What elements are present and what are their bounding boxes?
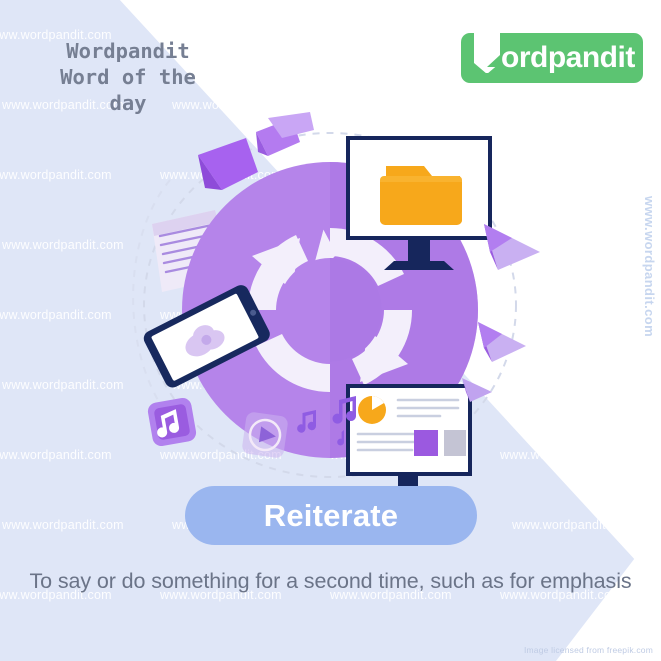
bookmark-icon xyxy=(474,33,500,73)
dashboard-swatch-gray xyxy=(444,430,466,456)
word-pill[interactable]: Reiterate xyxy=(185,486,477,545)
paper-plane-lower xyxy=(478,322,526,362)
watermark-text: www.wordpandit.com xyxy=(2,518,124,532)
music-app-tile xyxy=(147,397,198,448)
wordpandit-logo[interactable]: ordpandit xyxy=(461,33,643,83)
watermark-text: www.wordpandit.com xyxy=(512,518,634,532)
logo-text: ordpandit xyxy=(501,33,635,83)
image-credit: Image licensed from freepik.com xyxy=(524,645,653,655)
illustration xyxy=(0,110,661,500)
page-title: Wordpandit Word of the day xyxy=(22,38,234,116)
paper-plane-upper xyxy=(484,224,540,270)
watermark-text: www.wordpandit.com xyxy=(330,28,452,42)
definition-text: To say or do something for a second time… xyxy=(24,566,637,597)
dashed-arc-left xyxy=(133,180,175,425)
dashboard-swatch-purple xyxy=(414,430,438,456)
word-of-the-day-card: www.wordpandit.comwww.wordpandit.comwww.… xyxy=(0,0,661,661)
pie-chart-icon xyxy=(358,396,386,424)
play-button-tile xyxy=(241,411,288,458)
word-text: Reiterate xyxy=(264,498,398,534)
monitor-dashboard xyxy=(348,386,470,500)
